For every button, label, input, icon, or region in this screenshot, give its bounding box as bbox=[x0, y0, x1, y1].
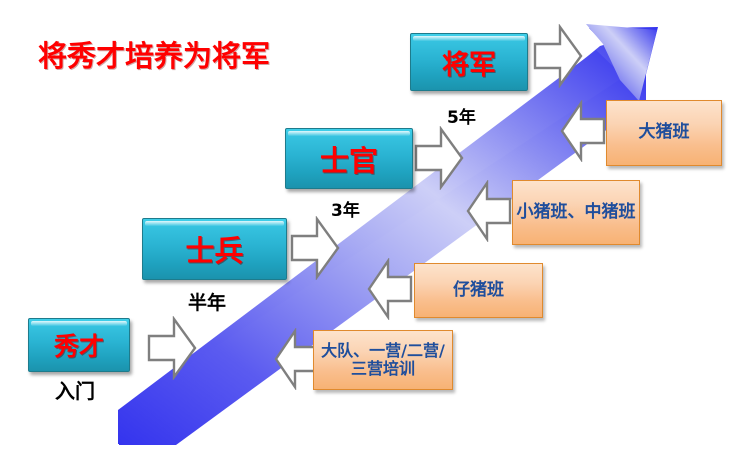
chevron-left-outline-4 bbox=[560, 100, 606, 162]
training-box-dadui[interactable]: 大队、一营/二营/ 三营培训 bbox=[313, 330, 453, 390]
rank-label-jiangjun: 将军 bbox=[442, 43, 496, 82]
duration-label-shibing: 半年 bbox=[188, 288, 226, 315]
training-label-zaizhuban: 仔猪班 bbox=[453, 281, 504, 301]
training-box-zaizhuban[interactable]: 仔猪班 bbox=[414, 263, 543, 318]
rank-box-shibing[interactable]: 士兵 bbox=[142, 218, 287, 280]
training-label-dadui-line1: 大队、一营/二营/ bbox=[321, 342, 445, 360]
chevron-right-outline-2 bbox=[290, 216, 340, 280]
chevron-right-outline-4 bbox=[533, 24, 583, 88]
rank-box-jiangjun[interactable]: 将军 bbox=[410, 33, 528, 91]
training-box-dazhuban[interactable]: 大猪班 bbox=[606, 100, 722, 166]
rank-label-xiucai: 秀才 bbox=[54, 327, 104, 363]
duration-label-shiguan: 3年 bbox=[331, 196, 360, 221]
rank-box-xiucai[interactable]: 秀才 bbox=[28, 318, 130, 372]
chevron-right-outline-3 bbox=[414, 126, 464, 190]
training-box-xiaozhuban-zhongzhuban[interactable]: 小猪班、中猪班 bbox=[512, 180, 640, 245]
rank-label-shibing: 士兵 bbox=[185, 228, 243, 270]
chevron-left-outline-2 bbox=[367, 258, 413, 320]
training-label-xiaozhuban-zhongzhuban: 小猪班、中猪班 bbox=[517, 203, 636, 223]
page-title: 将秀才培养为将军 bbox=[38, 33, 270, 75]
chevron-right-outline-1 bbox=[147, 316, 197, 380]
training-label-dazhuban: 大猪班 bbox=[639, 123, 690, 143]
duration-label-jiangjun: 5年 bbox=[447, 103, 476, 128]
rank-label-shiguan: 士官 bbox=[320, 138, 378, 180]
slide-canvas: 将秀才培养为将军 bbox=[0, 0, 733, 456]
training-label-dadui-line2: 三营培训 bbox=[321, 360, 445, 378]
rank-box-shiguan[interactable]: 士官 bbox=[285, 128, 413, 189]
duration-label-xiucai: 入门 bbox=[55, 375, 95, 404]
chevron-left-outline-3 bbox=[466, 180, 512, 242]
